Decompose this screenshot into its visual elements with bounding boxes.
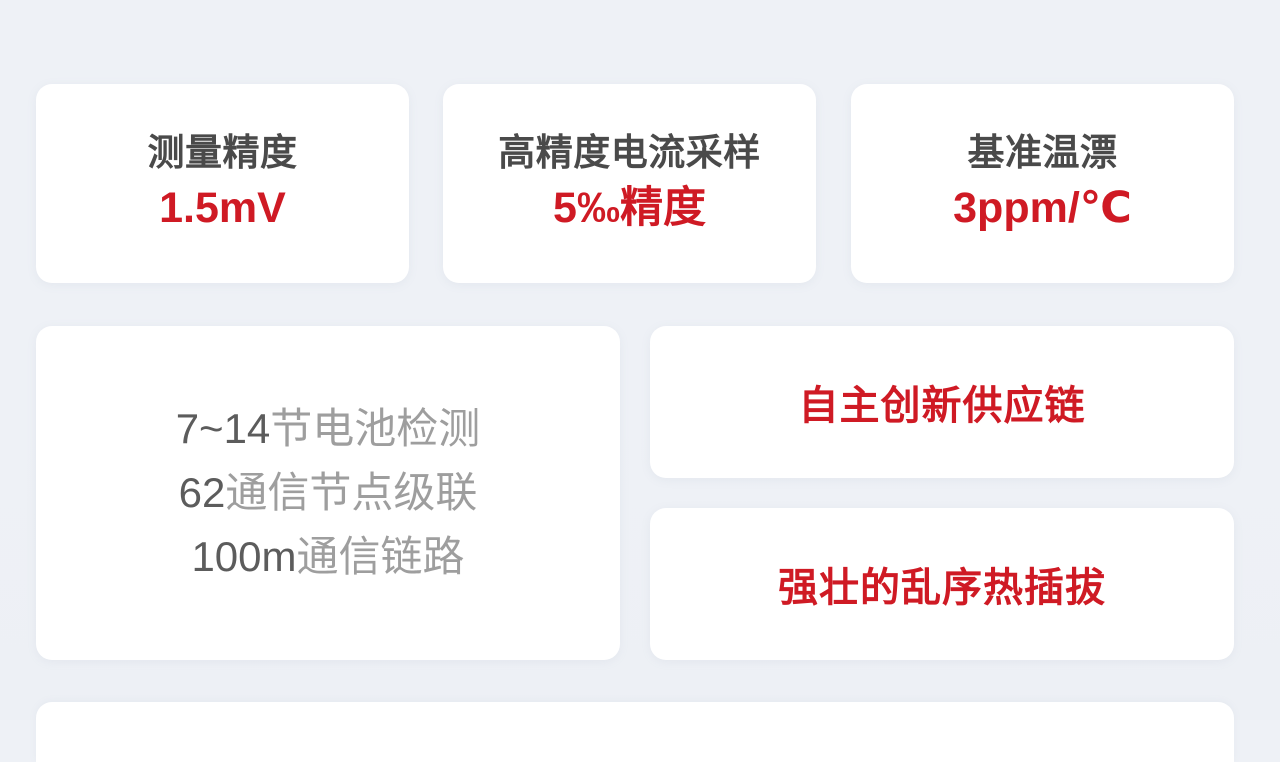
stat-card-value: 3ppm/℃ xyxy=(953,181,1132,237)
metric-label: 节电池检测 xyxy=(270,405,480,452)
metric-label: 通信节点级联 xyxy=(225,469,477,516)
banner-card-text: 强壮的乱序热插拔 xyxy=(778,555,1106,613)
metric-line: 7~14节电池检测 xyxy=(176,405,481,453)
stat-card-title: 基准温漂 xyxy=(968,130,1118,176)
stat-card-title: 测量精度 xyxy=(148,130,298,176)
banner-card-hot-swap: 强壮的乱序热插拔 xyxy=(650,508,1234,660)
metric-number: 100m xyxy=(191,533,296,580)
metric-label: 通信链路 xyxy=(297,533,465,580)
stat-card-title: 高精度电流采样 xyxy=(498,130,761,176)
metric-line: 62通信节点级联 xyxy=(179,469,478,517)
stat-card-value: 5‰精度 xyxy=(553,181,706,237)
next-card-peek xyxy=(36,702,1234,762)
banner-card-supply-chain: 自主创新供应链 xyxy=(650,326,1234,478)
spec-board: 测量精度 1.5mV 高精度电流采样 5‰精度 基准温漂 3ppm/℃ 7~14… xyxy=(0,0,1280,720)
metrics-card: 7~14节电池检测 62通信节点级联 100m通信链路 xyxy=(36,326,620,660)
stat-card-measurement-accuracy: 测量精度 1.5mV xyxy=(36,84,409,283)
metric-line: 100m通信链路 xyxy=(191,533,464,581)
metric-number: 7~14 xyxy=(176,405,271,452)
stat-card-value: 1.5mV xyxy=(159,181,286,237)
metric-number: 62 xyxy=(179,469,226,516)
stat-card-current-sampling: 高精度电流采样 5‰精度 xyxy=(443,84,816,283)
banner-card-text: 自主创新供应链 xyxy=(799,373,1086,431)
stat-card-reference-temperature-drift: 基准温漂 3ppm/℃ xyxy=(851,84,1234,283)
